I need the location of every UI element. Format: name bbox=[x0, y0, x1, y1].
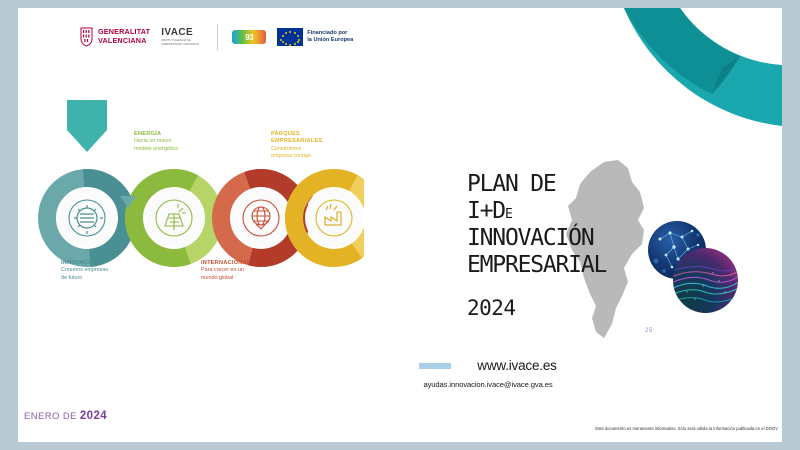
label-parques-desc2: empresa contigo bbox=[271, 153, 322, 160]
generalitat-valenciana-logo: GENERALITAT VALENCIANA bbox=[80, 27, 150, 47]
label-internacional-title: INTERNACIONAL bbox=[201, 260, 251, 267]
title-line-4: EMPRESARIAL bbox=[467, 252, 667, 279]
title-line-2: I+DE bbox=[467, 198, 667, 225]
dash-rule bbox=[419, 363, 451, 369]
label-internacional-desc2: mundo global bbox=[201, 275, 251, 282]
publication-date: ENERO DE 2024 bbox=[24, 410, 107, 422]
label-energia-title: ENERGÍA bbox=[134, 131, 178, 138]
eu-line1: Financiado por bbox=[307, 30, 353, 37]
label-innovacion-desc1: Creamos empresas bbox=[61, 267, 108, 274]
eu-funding-text: Financiado por la Unión Europea bbox=[307, 30, 353, 44]
node-energia bbox=[123, 167, 226, 270]
label-energia-desc1: Hacia un nuevo bbox=[134, 138, 178, 145]
logo-divider bbox=[217, 24, 218, 50]
slide-canvas: GENERALITAT VALENCIANA IVACE INSTITUT VA… bbox=[18, 8, 782, 442]
page-title: PLAN DE I+DE INNOVACIÓN EMPRESARIAL bbox=[467, 171, 667, 279]
date-prefix: ENERO DE bbox=[24, 411, 77, 422]
website-link[interactable]: www.ivace.es bbox=[477, 358, 556, 373]
label-innovacion-title: INNOVACIÓN bbox=[61, 260, 108, 267]
eu-flag-icon bbox=[277, 28, 303, 46]
date-year: 2024 bbox=[80, 410, 107, 422]
email-link[interactable]: ayudas.innovacion.ivace@ivace.gva.es bbox=[373, 380, 603, 389]
label-energia-desc2: modelo energético bbox=[134, 146, 178, 153]
title-e: E bbox=[505, 207, 512, 222]
teal-arrow-marker bbox=[67, 100, 107, 152]
ivace-logo: IVACE INSTITUT VALENCIÀ DE COMPETITIVITA… bbox=[161, 28, 203, 45]
label-energia: ENERGÍA Hacia un nuevo modelo energético bbox=[134, 131, 178, 153]
title-line-3: INNOVACIÓN bbox=[467, 225, 667, 252]
gva-shield-icon bbox=[80, 27, 93, 47]
contact-block: www.ivace.es ayudas.innovacion.ivace@iva… bbox=[373, 358, 603, 389]
label-parques-title2: EMPRESARIALES bbox=[271, 138, 322, 145]
label-parques: PARQUES EMPRESARIALES Construimos empres… bbox=[271, 131, 322, 160]
legal-disclaimer: Este documento es meramente informativo.… bbox=[563, 426, 778, 431]
generalitat-line2: VALENCIANA bbox=[98, 37, 150, 46]
generalitat-text: GENERALITAT VALENCIANA bbox=[98, 28, 150, 46]
ivace-subtitle: INSTITUT VALENCIÀ DE COMPETITIVITAT I IN… bbox=[161, 39, 203, 45]
label-internacional-desc1: Para crecer en un bbox=[201, 267, 251, 274]
header-logo-bar: GENERALITAT VALENCIANA IVACE INSTITUT VA… bbox=[80, 24, 353, 50]
european-union-logo: Financiado por la Unión Europea bbox=[277, 28, 353, 46]
title-line-1: PLAN DE bbox=[467, 171, 667, 198]
label-internacional: INTERNACIONAL Para crecer en un mundo gl… bbox=[201, 260, 251, 282]
label-innovacion-desc2: de futuro bbox=[61, 275, 108, 282]
ivace-wordmark: IVACE bbox=[161, 28, 203, 38]
label-innovacion: INNOVACIÓN Creamos empresas de futuro bbox=[61, 260, 108, 282]
node-innovacion bbox=[44, 175, 131, 262]
label-parques-title1: PARQUES bbox=[271, 131, 322, 138]
title-idi: I+D bbox=[467, 198, 505, 224]
g93-label: 93 bbox=[245, 33, 253, 42]
eu-line2: la Unión Europea bbox=[307, 37, 353, 44]
strategy-infographic: INNOVACIÓN Creamos empresas de futuro EN… bbox=[34, 100, 364, 295]
data-wave-sphere-icon bbox=[673, 248, 738, 313]
title-year: 2024 bbox=[467, 296, 516, 320]
node-parques bbox=[278, 162, 364, 273]
teal-swoosh-decoration bbox=[562, 8, 782, 138]
website-row: www.ivace.es bbox=[373, 358, 603, 373]
g93-logo-icon: 93 bbox=[232, 30, 266, 44]
label-parques-desc1: Construimos bbox=[271, 146, 322, 153]
mark-25: 25 bbox=[645, 328, 653, 334]
